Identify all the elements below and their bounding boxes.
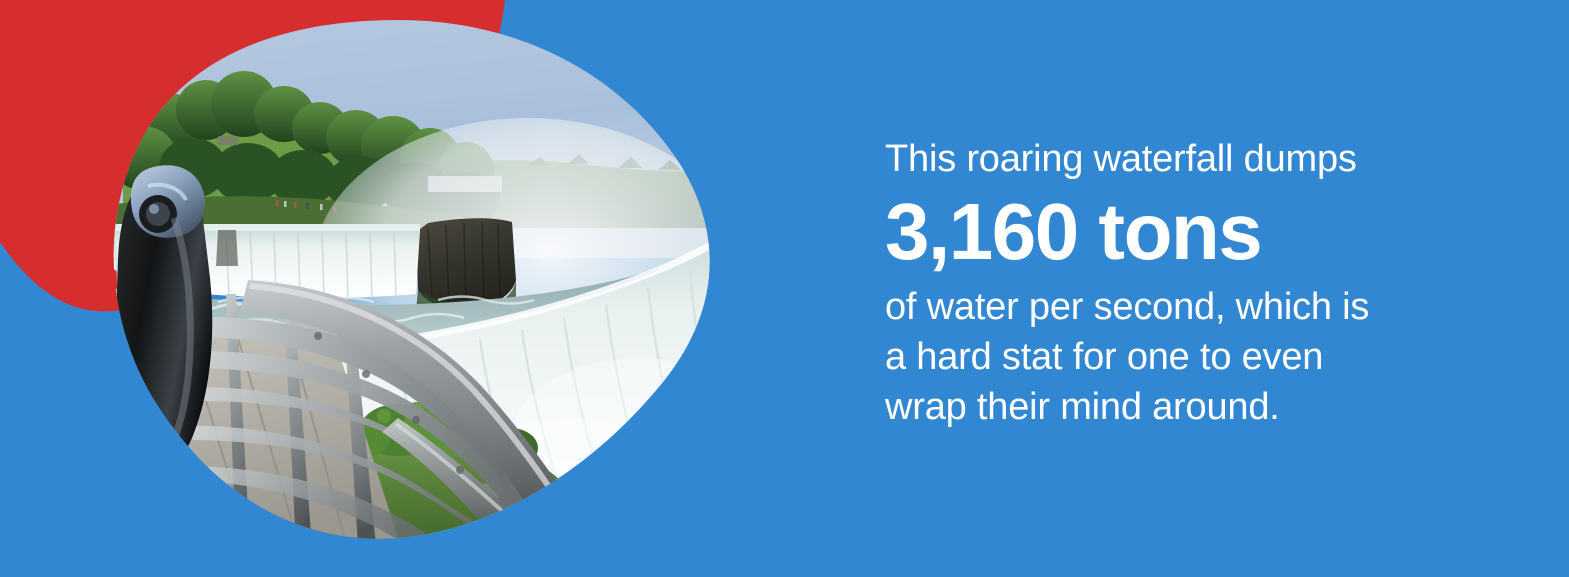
copy-line-4: a hard stat for one to even	[885, 332, 1485, 382]
copy-line-5: wrap their mind around.	[885, 382, 1485, 432]
stat-value-highlight: 3,160 tons	[885, 186, 1485, 278]
waterfall-photo-blob	[98, 18, 723, 548]
stat-banner: This roaring waterfall dumps 3,160 tons …	[0, 0, 1569, 577]
photo-ledge-rock	[216, 230, 238, 266]
copy-line-1: This roaring waterfall dumps	[885, 134, 1485, 184]
stat-copy-block: This roaring waterfall dumps 3,160 tons …	[885, 134, 1485, 432]
copy-line-3: of water per second, which is	[885, 282, 1485, 332]
